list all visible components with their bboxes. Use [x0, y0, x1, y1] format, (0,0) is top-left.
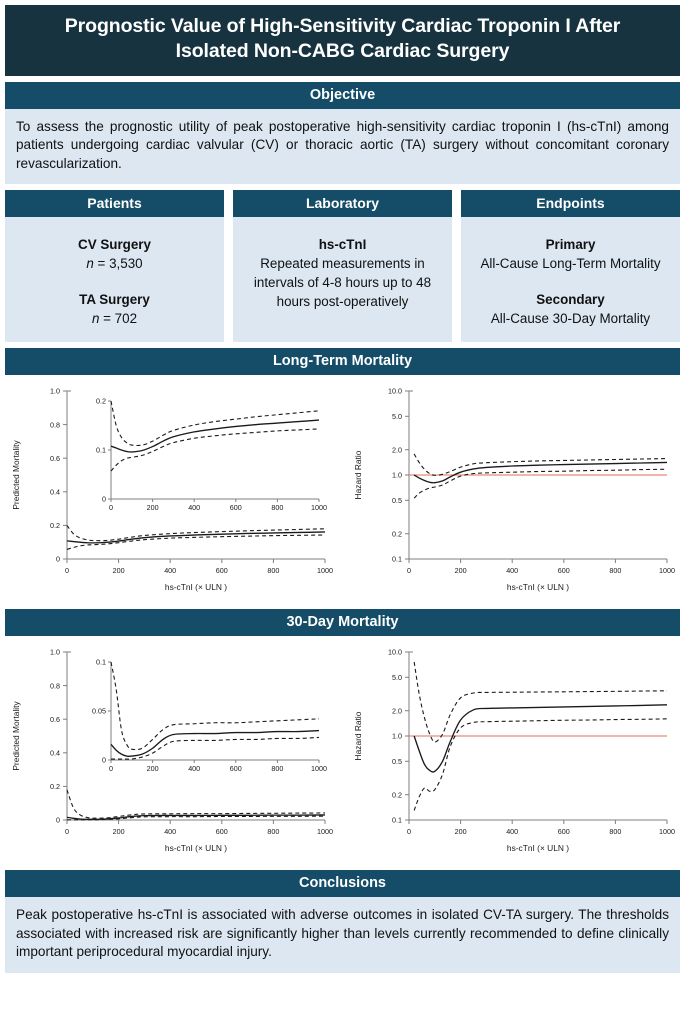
column-line: Repeated measurements in intervals of 4-…	[241, 254, 444, 311]
y-tick-label: 5.0	[392, 673, 402, 682]
column-laboratory-header: Laboratory	[233, 190, 452, 217]
series-dashed	[414, 662, 667, 742]
column-line: All-Cause 30-Day Mortality	[469, 309, 672, 328]
inset-y-tick-label: 0	[102, 495, 106, 504]
x-tick-label: 200	[455, 827, 467, 836]
column-endpoints: Endpoints PrimaryAll-Cause Long-Term Mor…	[461, 190, 680, 342]
x-tick-label: 0	[407, 827, 411, 836]
x-tick-label: 200	[113, 827, 125, 836]
inset-x-tick-label: 600	[230, 764, 242, 773]
x-tick-label: 600	[216, 827, 228, 836]
x-tick-label: 600	[558, 566, 570, 575]
x-axis-title: hs-cTnI (× ULN )	[507, 843, 569, 853]
inset-x-tick-label: 0	[109, 503, 113, 512]
x-tick-label: 400	[164, 566, 176, 575]
y-tick-label: 10.0	[388, 387, 402, 396]
y-tick-label: 0.1	[392, 555, 402, 564]
inset-x-tick-label: 800	[271, 503, 283, 512]
chart-lt-hazard: 0.10.20.51.02.05.010.002004006008001000h…	[347, 375, 685, 605]
y-tick-label: 0.6	[50, 454, 60, 463]
y-tick-label: 0.5	[392, 496, 402, 505]
column-line: n = 702	[13, 309, 216, 328]
y-tick-label: 1.0	[50, 648, 60, 657]
y-tick-label: 1.0	[392, 471, 402, 480]
column-line-gap	[469, 273, 672, 290]
y-axis-title: Predicted Mortality	[11, 701, 21, 771]
graphical-abstract: Prognostic Value of High-Sensitivity Car…	[0, 0, 685, 1022]
conclusions-section: Conclusions Peak postoperative hs-cTnI i…	[5, 870, 680, 972]
column-endpoints-header: Endpoints	[461, 190, 680, 217]
inset-x-tick-label: 600	[230, 503, 242, 512]
inset-x-tick-label: 1000	[311, 503, 327, 512]
page-title: Prognostic Value of High-Sensitivity Car…	[5, 5, 680, 76]
y-tick-label: 0.2	[50, 521, 60, 530]
y-tick-label: 0	[56, 555, 60, 564]
inset-y-tick-label: 0.1	[96, 446, 106, 455]
x-tick-label: 1000	[317, 566, 333, 575]
x-tick-label: 600	[216, 566, 228, 575]
series-dashed	[414, 719, 667, 811]
y-tick-label: 0.4	[50, 488, 60, 497]
column-line: CV Surgery	[13, 235, 216, 254]
inset-x-tick-label: 400	[188, 503, 200, 512]
long-term-chart-row: 00.20.40.60.81.002004006008001000hs-cTnI…	[5, 375, 680, 605]
inset-x-tick-label: 1000	[311, 764, 327, 773]
x-tick-label: 0	[65, 827, 69, 836]
inset-y-tick-label: 0	[102, 756, 106, 765]
x-tick-label: 800	[267, 566, 279, 575]
conclusions-header: Conclusions	[5, 870, 680, 897]
column-patients: Patients CV Surgeryn = 3,530TA Surgeryn …	[5, 190, 224, 342]
inset-x-tick-label: 0	[109, 764, 113, 773]
column-laboratory: Laboratory hs-cTnIRepeated measurements …	[233, 190, 452, 342]
chart-svg-lt-mortality: 00.20.40.60.81.002004006008001000hs-cTnI…	[5, 375, 347, 605]
y-tick-label: 0.6	[50, 715, 60, 724]
y-tick-label: 2.0	[392, 707, 402, 716]
x-tick-label: 400	[164, 827, 176, 836]
column-line: TA Surgery	[13, 290, 216, 309]
chart-svg-d30-mortality: 00.20.40.60.81.002004006008001000hs-cTnI…	[5, 636, 347, 866]
y-tick-label: 0.2	[392, 530, 402, 539]
y-tick-label: 5.0	[392, 412, 402, 421]
y-axis-title: Hazard Ratio	[353, 711, 363, 760]
y-tick-label: 2.0	[392, 446, 402, 455]
y-tick-label: 1.0	[50, 387, 60, 396]
y-tick-label: 10.0	[388, 648, 402, 657]
y-tick-label: 0.1	[392, 816, 402, 825]
x-tick-label: 1000	[659, 566, 675, 575]
column-patients-header: Patients	[5, 190, 224, 217]
long-term-mortality-header: Long-Term Mortality	[5, 348, 680, 375]
inset-x-tick-label: 200	[147, 503, 159, 512]
chart-d30-hazard: 0.10.20.51.02.05.010.002004006008001000h…	[347, 636, 685, 866]
x-tick-label: 400	[506, 827, 518, 836]
chart-lt-mortality: 00.20.40.60.81.002004006008001000hs-cTnI…	[5, 375, 347, 605]
series-dashed	[414, 470, 667, 499]
y-tick-label: 0.5	[392, 757, 402, 766]
x-tick-label: 0	[407, 566, 411, 575]
objective-header: Objective	[5, 82, 680, 109]
x-tick-label: 1000	[317, 827, 333, 836]
column-line: n = 3,530	[13, 254, 216, 273]
x-tick-label: 1000	[659, 827, 675, 836]
x-tick-label: 800	[267, 827, 279, 836]
column-line: hs-cTnI	[241, 235, 444, 254]
inset-x-tick-label: 400	[188, 764, 200, 773]
chart-svg-d30-hazard: 0.10.20.51.02.05.010.002004006008001000h…	[347, 636, 685, 866]
x-tick-label: 200	[455, 566, 467, 575]
x-axis-title: hs-cTnI (× ULN )	[507, 582, 569, 592]
thirty-day-mortality-header: 30-Day Mortality	[5, 609, 680, 636]
x-axis-title: hs-cTnI (× ULN )	[165, 582, 227, 592]
conclusions-text: Peak postoperative hs-cTnI is associated…	[5, 897, 680, 972]
column-line: All-Cause Long-Term Mortality	[469, 254, 672, 273]
inset-chart: 00.050.102004006008001000	[71, 652, 327, 780]
y-tick-label: 0.8	[50, 421, 60, 430]
y-tick-label: 0.2	[392, 791, 402, 800]
y-tick-label: 0	[56, 816, 60, 825]
y-tick-label: 0.4	[50, 749, 60, 758]
y-tick-label: 1.0	[392, 732, 402, 741]
inset-y-tick-label: 0.05	[92, 707, 106, 716]
y-tick-label: 0.8	[50, 682, 60, 691]
inset-x-tick-label: 200	[147, 764, 159, 773]
column-line: Secondary	[469, 290, 672, 309]
inset-y-tick-label: 0.1	[96, 658, 106, 667]
series-dashed	[67, 816, 325, 820]
y-axis-title: Hazard Ratio	[353, 450, 363, 499]
inset-x-tick-label: 800	[271, 764, 283, 773]
x-tick-label: 0	[65, 566, 69, 575]
objective-text: To assess the prognostic utility of peak…	[5, 109, 680, 184]
chart-svg-lt-hazard: 0.10.20.51.02.05.010.002004006008001000h…	[347, 375, 685, 605]
y-axis-title: Predicted Mortality	[11, 440, 21, 510]
inset-y-tick-label: 0.2	[96, 397, 106, 406]
x-tick-label: 800	[609, 827, 621, 836]
thirty-day-chart-row: 00.20.40.60.81.002004006008001000hs-cTnI…	[5, 636, 680, 866]
x-tick-label: 200	[113, 566, 125, 575]
column-endpoints-body: PrimaryAll-Cause Long-Term MortalitySeco…	[461, 217, 680, 342]
summary-columns: Patients CV Surgeryn = 3,530TA Surgeryn …	[5, 190, 680, 342]
x-axis-title: hs-cTnI (× ULN )	[165, 843, 227, 853]
inset-chart: 00.10.202004006008001000	[71, 391, 327, 519]
column-line: Primary	[469, 235, 672, 254]
x-tick-label: 800	[609, 566, 621, 575]
x-tick-label: 400	[506, 566, 518, 575]
y-tick-label: 0.2	[50, 782, 60, 791]
series-dashed	[67, 790, 325, 818]
column-line-gap	[13, 273, 216, 290]
chart-d30-mortality: 00.20.40.60.81.002004006008001000hs-cTnI…	[5, 636, 347, 866]
x-tick-label: 600	[558, 827, 570, 836]
series-solid	[414, 705, 667, 772]
column-patients-body: CV Surgeryn = 3,530TA Surgeryn = 702	[5, 217, 224, 342]
column-laboratory-body: hs-cTnIRepeated measurements in interval…	[233, 217, 452, 342]
objective-section: Objective To assess the prognostic utili…	[5, 82, 680, 184]
